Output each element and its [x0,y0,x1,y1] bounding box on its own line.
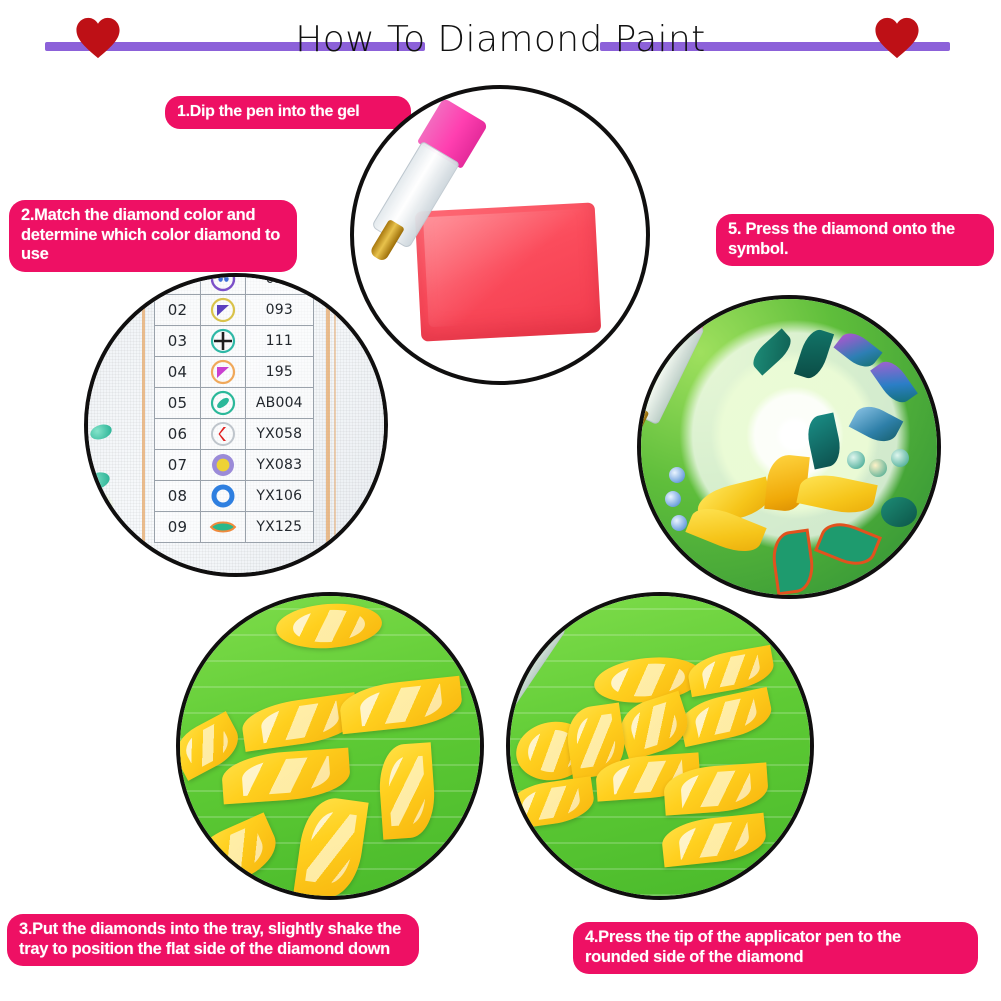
chart-dmc-cell: 111 [245,326,313,357]
loose-diamond [84,469,112,492]
canvas-gem [804,412,844,469]
chart-symbol-cell [201,273,246,295]
table-row: 08 YX106 [155,481,314,512]
canvas-dot [869,459,887,477]
loose-diamond [183,812,285,895]
gel-pad [415,202,602,341]
table-row: 07 YX083 [155,450,314,481]
canvas-gem [794,326,834,382]
canvas-gem [849,400,904,448]
step-3-photo [176,592,484,900]
color-chart-table: 01 028 02 [154,273,314,543]
pen-tip [637,405,649,454]
table-row: 06 YX058 [155,419,314,450]
chart-dmc-cell: 195 [245,357,313,388]
step-5-photo [637,295,941,599]
step-5-label-text: 5. Press the diamond onto the symbol. [728,220,982,259]
header: How To Diamond Paint [0,0,1001,80]
table-row: 01 028 [155,273,314,295]
chart-edge-strip [142,277,145,573]
table-row: 04 195 [155,357,314,388]
chart-symbol-cell [201,357,246,388]
chart-symbol-cell [201,450,246,481]
page-title: How To Diamond Paint [0,17,1001,63]
infographic-root: How To Diamond Paint 1.Dip the pen into … [0,0,1001,1001]
diamond-pickup-scene [510,596,810,896]
chart-symbol-cell [201,419,246,450]
chart-code-cell: 01 [155,273,201,295]
loose-diamond [293,794,368,900]
step-4-label-text: 4.Press the tip of the applicator pen to… [585,928,966,967]
diamond-tray-scene [180,596,480,896]
loose-diamond [338,676,464,735]
triangle-symbol-icon [208,295,238,325]
color-chart-body: 01 028 02 [155,273,314,543]
ellipse-symbol-icon [208,388,238,418]
double-drop-symbol-icon [208,273,238,294]
triangle-symbol-icon [208,357,238,387]
canvas-petal-outline [814,516,882,573]
chart-symbol-cell [201,481,246,512]
chart-code-cell: 02 [155,295,201,326]
table-row: 03 111 [155,326,314,357]
chart-edge-strip [334,277,336,573]
loose-diamond [660,813,768,868]
chart-dmc-cell: 093 [245,295,313,326]
chart-code-cell: 05 [155,388,201,419]
loose-diamond [506,776,597,830]
chart-code-cell: 07 [155,450,201,481]
chart-symbol-cell [201,388,246,419]
canvas-dot [665,491,681,507]
canvas-dot [847,451,865,469]
table-row: 02 093 [155,295,314,326]
canvas-petal-outline [769,529,817,596]
chart-dmc-cell: YX106 [245,481,313,512]
loose-diamond [592,652,704,707]
chart-code-cell: 06 [155,419,201,450]
chart-code-cell: 04 [155,357,201,388]
table-row: 09 YX125 [155,512,314,543]
applicator-pen [637,309,707,464]
step-4-label: 4.Press the tip of the applicator pen to… [573,922,978,974]
step-3-label: 3.Put the diamonds into the tray, slight… [7,914,419,966]
chart-edge-strip [326,277,330,573]
step-2-photo: 01 028 02 [84,273,388,577]
canvas-gem [748,328,797,375]
table-row: 05 AB004 [155,388,314,419]
leaf-symbol-icon [208,512,238,542]
color-chart-scene: 01 028 02 [88,277,384,573]
step-1-photo [350,85,650,385]
step-2-label-text: 2.Match the diamond color and determine … [21,206,285,265]
canvas-color-blob [84,491,116,525]
gel-pad-scene [354,89,646,381]
chart-dmc-cell: 028 [245,273,313,295]
canvas-gem [870,356,918,409]
filled-circle-symbol-icon [208,450,238,480]
arrow-left-symbol-icon [208,419,238,449]
canvas-gem [881,497,917,527]
step-2-label: 2.Match the diamond color and determine … [9,200,297,272]
step-5-label: 5. Press the diamond onto the symbol. [716,214,994,266]
chart-dmc-cell: YX125 [245,512,313,543]
chart-code-cell: 08 [155,481,201,512]
loose-diamond [220,748,351,805]
loose-diamond [88,422,113,442]
chart-code-cell: 03 [155,326,201,357]
chart-dmc-cell: YX083 [245,450,313,481]
canvas-dot [891,449,909,467]
chart-symbol-cell [201,295,246,326]
canvas-dot [669,467,685,483]
canvas-dot [671,515,687,531]
loose-diamond [377,742,437,840]
chart-dmc-cell: YX058 [245,419,313,450]
chart-symbol-cell [201,512,246,543]
step-3-label-text: 3.Put the diamonds into the tray, slight… [19,920,407,959]
chart-symbol-cell [201,326,246,357]
mandala-canvas-scene [641,299,937,595]
ring-symbol-icon [208,481,238,511]
chart-code-cell: 09 [155,512,201,543]
loose-diamond [275,600,384,651]
plus-symbol-icon [208,326,238,356]
pen-body [506,606,566,719]
step-4-photo [506,592,814,900]
placed-diamond [796,469,877,518]
pen-body [637,310,705,425]
chart-dmc-cell: AB004 [245,388,313,419]
